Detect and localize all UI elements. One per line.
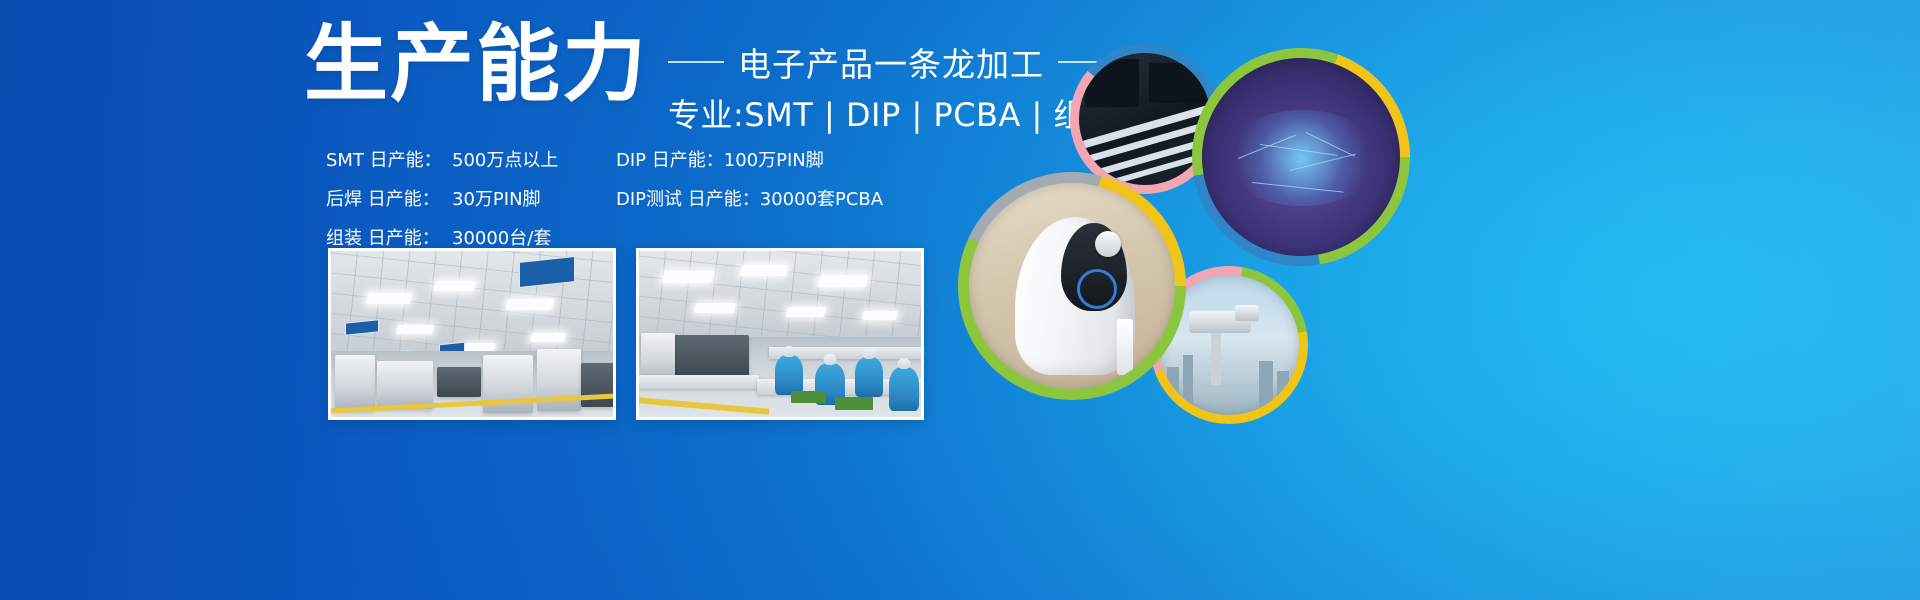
fryer-handle <box>1117 319 1133 375</box>
skyline-building <box>1259 361 1273 411</box>
ceiling-lamp <box>530 333 566 342</box>
spec-row: DIP测试 日产能：30000套PCBA <box>616 185 883 211</box>
car-glow <box>1224 110 1380 206</box>
ceiling-lamp <box>818 275 869 287</box>
skyline-building <box>1277 371 1289 411</box>
component-tray <box>835 397 873 410</box>
spec-row: SMT 日产能： 500万点以上 <box>326 146 616 172</box>
automotive-network-image <box>1202 58 1400 256</box>
spec-label: 后焊 日产能： <box>326 185 452 211</box>
page-title: 生产能力 <box>304 22 648 106</box>
automotive-electronics-circle <box>1192 48 1410 266</box>
smt-machine <box>335 355 375 411</box>
ceiling-lamp <box>506 299 555 310</box>
spec-label: 组装 日产能： <box>326 224 452 250</box>
ceiling-lamp <box>694 303 736 313</box>
smt-workshop-photo <box>328 248 616 420</box>
work-bench <box>639 375 759 389</box>
camera-lens <box>1235 305 1259 321</box>
spec-row: 组装 日产能： 30000台/套 <box>326 224 616 250</box>
ceiling-lamp <box>862 311 898 320</box>
air-fryer-image <box>969 183 1175 389</box>
air-fryer-product-circle <box>958 172 1186 400</box>
camera-pole <box>1211 333 1221 385</box>
assembly-line-photo <box>636 248 924 420</box>
spec-row: DIP 日产能：100万PIN脚 <box>616 146 883 172</box>
machine-block <box>1085 59 1139 107</box>
ceiling-grid <box>639 251 921 337</box>
component-tray <box>791 391 825 403</box>
spec-column-right: DIP 日产能：100万PIN脚 DIP测试 日产能：30000套PCBA <box>616 146 883 250</box>
spec-row: 后焊 日产能： 30万PIN脚 <box>326 185 616 211</box>
production-capacity-banner: 生产能力 电子产品一条龙加工 专业:SMT | DIP | PCBA | 组装 … <box>0 0 1920 600</box>
skyline-building <box>1167 367 1179 411</box>
ceiling-lamp <box>434 281 476 291</box>
line-equipment <box>673 335 749 377</box>
ceiling-lamp <box>662 271 715 283</box>
smt-monitor <box>437 367 481 397</box>
spec-label: SMT 日产能： <box>326 146 452 172</box>
spec-value: 500万点以上 <box>452 146 558 172</box>
ceiling-lamp <box>786 307 826 317</box>
spec-value: 30000台/套 <box>452 224 551 250</box>
fryer-indicator-ring <box>1077 269 1117 309</box>
product-circle-cluster <box>950 10 1420 380</box>
spec-list: SMT 日产能： 500万点以上 后焊 日产能： 30万PIN脚 组装 日产能：… <box>326 146 883 250</box>
ceiling-lamp <box>740 265 789 276</box>
ceiling-lamp <box>366 293 413 304</box>
fryer-dial <box>1095 231 1121 257</box>
smt-machine <box>581 363 615 407</box>
assembly-worker <box>855 357 883 397</box>
assembly-worker <box>889 367 919 411</box>
assembly-worker <box>775 355 803 395</box>
ceiling-lamp <box>396 325 434 334</box>
divider-left <box>668 61 724 63</box>
spec-column-left: SMT 日产能： 500万点以上 后焊 日产能： 30万PIN脚 组装 日产能：… <box>326 146 616 250</box>
pcb-equipment-image <box>1079 53 1211 185</box>
smt-machine <box>377 361 433 409</box>
machine-block <box>1149 63 1207 103</box>
spec-value: 30万PIN脚 <box>452 185 541 211</box>
skyline-building <box>1183 355 1193 411</box>
